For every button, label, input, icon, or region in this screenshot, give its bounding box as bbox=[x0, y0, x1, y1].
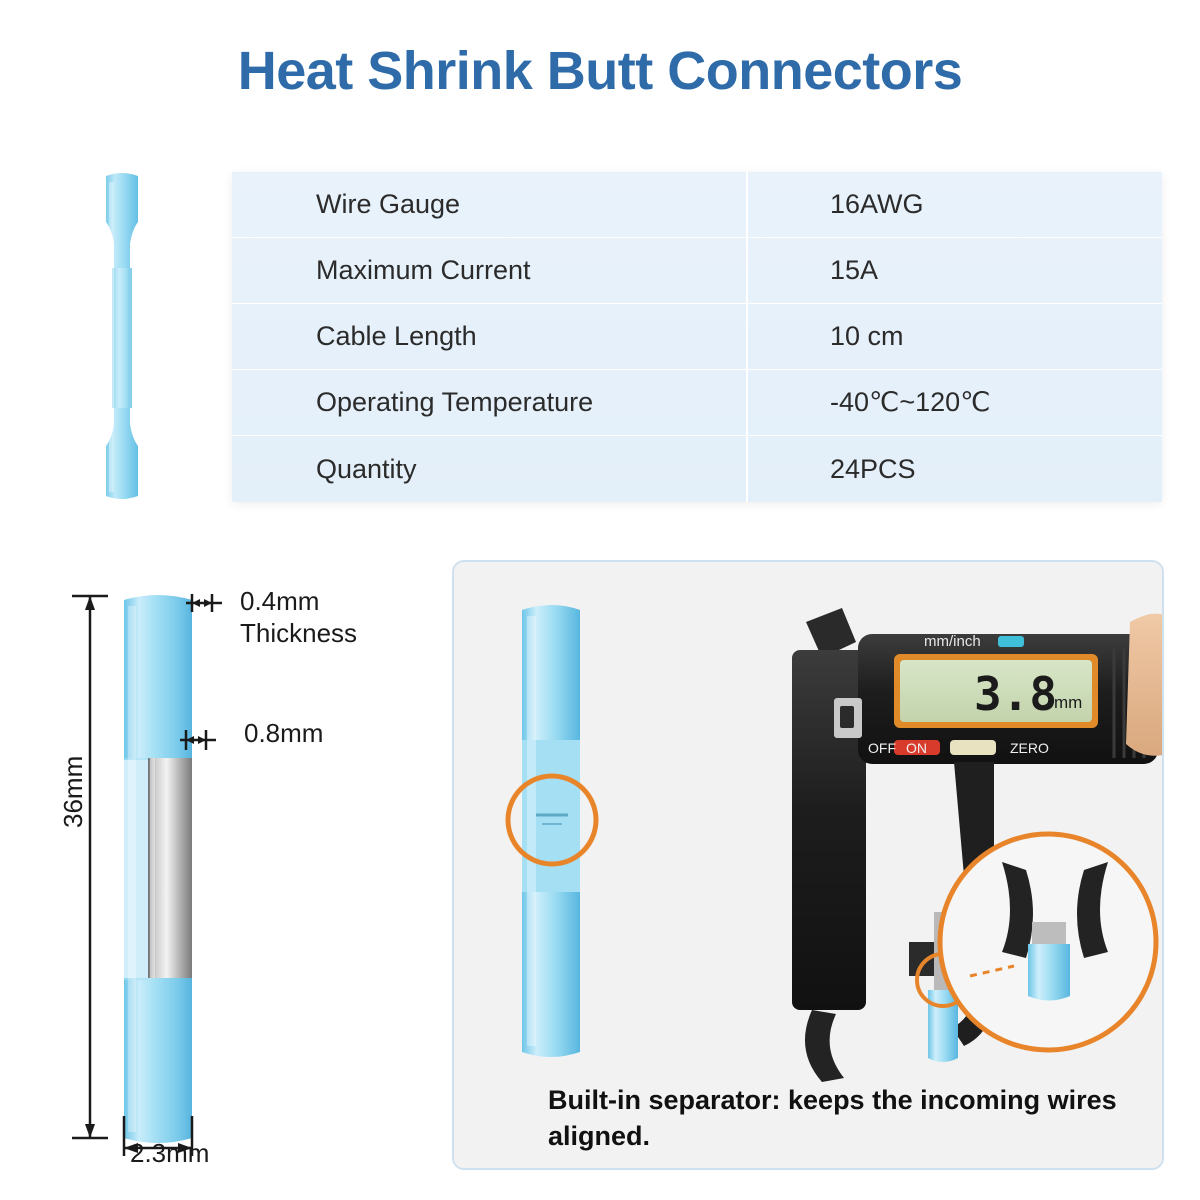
zoom-bubble bbox=[940, 834, 1156, 1050]
table-row: Operating Temperature -40℃~120℃ bbox=[232, 370, 1162, 436]
spec-table: Wire Gauge 16AWG Maximum Current 15A Cab… bbox=[232, 172, 1162, 502]
spec-value: -40℃~120℃ bbox=[748, 370, 1162, 435]
thickness-dimension-marks bbox=[186, 594, 222, 612]
connector-body-graphic bbox=[124, 595, 192, 1143]
spec-value: 16AWG bbox=[748, 172, 1162, 237]
finger bbox=[1126, 614, 1164, 756]
table-row: Maximum Current 15A bbox=[232, 238, 1162, 304]
page-title: Heat Shrink Butt Connectors bbox=[0, 40, 1200, 102]
measurement-photo-card: 3.8 mm mm/inch OFF ON ZERO bbox=[452, 560, 1164, 1170]
dimension-diagram bbox=[0, 560, 440, 1200]
product-infographic: Heat Shrink Butt Connectors bbox=[0, 0, 1200, 1200]
table-row: Quantity 24PCS bbox=[232, 436, 1162, 502]
width-label: 2.3mm bbox=[130, 1138, 209, 1170]
spec-label: Wire Gauge bbox=[232, 172, 748, 237]
table-row: Cable Length 10 cm bbox=[232, 304, 1162, 370]
caliper-mode: mm/inch bbox=[924, 633, 981, 650]
caliper-on-label: ON bbox=[906, 740, 927, 756]
caliper-unit: mm bbox=[1054, 693, 1082, 712]
wall-dimension-marks bbox=[180, 730, 216, 750]
table-row: Wire Gauge 16AWG bbox=[232, 172, 1162, 238]
caliper-off-label: OFF bbox=[868, 740, 896, 756]
length-dimension-marks bbox=[72, 596, 108, 1138]
connector-illustration-top bbox=[96, 172, 148, 502]
spec-label: Quantity bbox=[232, 436, 748, 502]
spec-value: 24PCS bbox=[748, 436, 1162, 502]
thickness-label: 0.4mm Thickness bbox=[240, 586, 357, 649]
spec-value: 10 cm bbox=[748, 304, 1162, 369]
spec-label: Cable Length bbox=[232, 304, 748, 369]
caliper-zero-label: ZERO bbox=[1010, 740, 1049, 756]
length-label: 36mm bbox=[58, 756, 90, 828]
wall-thickness-label: 0.8mm bbox=[244, 718, 323, 750]
photo-caption: Built-in separator: keeps the incoming w… bbox=[548, 1082, 1168, 1155]
spec-value: 15A bbox=[748, 238, 1162, 303]
caliper-reading: 3.8 bbox=[974, 667, 1057, 721]
spec-label: Maximum Current bbox=[232, 238, 748, 303]
spec-label: Operating Temperature bbox=[232, 370, 748, 435]
